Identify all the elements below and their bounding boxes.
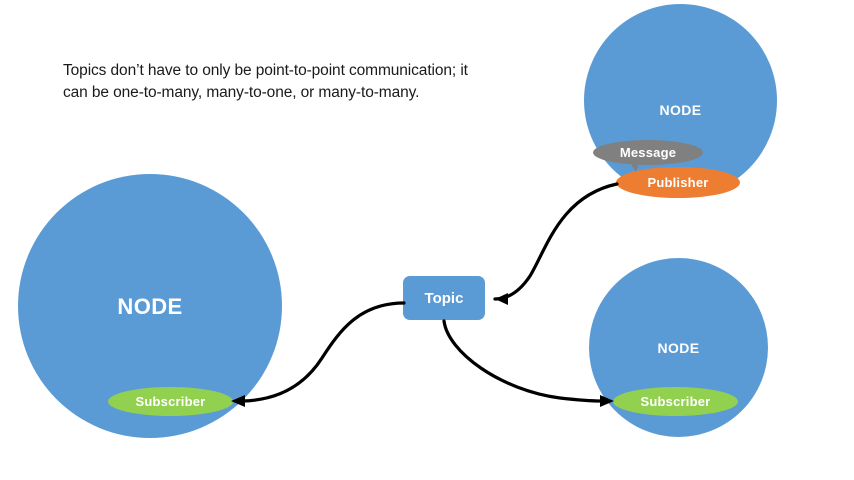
publisher-label: Publisher	[647, 175, 708, 190]
publisher-top-right[interactable]: Publisher	[616, 167, 740, 198]
subscriber-left[interactable]: Subscriber	[108, 387, 233, 416]
diagram-canvas: Topics don’t have to only be point-to-po…	[0, 0, 854, 480]
node-left-label: NODE	[18, 294, 282, 320]
message-label: Message	[620, 145, 676, 160]
caption-line-1: Topics don’t have to only be point-to-po…	[63, 60, 483, 82]
node-top-right-label: NODE	[584, 102, 777, 118]
caption-line-2: can be one-to-many, many-to-one, or many…	[63, 82, 483, 104]
caption-text: Topics don’t have to only be point-to-po…	[63, 60, 483, 105]
topic-label: Topic	[425, 290, 464, 307]
subscriber-left-label: Subscriber	[136, 394, 206, 409]
node-bottom-right-label: NODE	[589, 340, 768, 356]
topic-box[interactable]: Topic	[403, 276, 485, 320]
subscriber-bottom-right-label: Subscriber	[641, 394, 711, 409]
subscriber-bottom-right[interactable]: Subscriber	[613, 387, 738, 416]
arrow-topic-to-bottom-right-subscriber	[444, 321, 614, 407]
message-bubble[interactable]: Message	[593, 140, 703, 165]
arrow-publisher-to-topic	[495, 184, 617, 305]
